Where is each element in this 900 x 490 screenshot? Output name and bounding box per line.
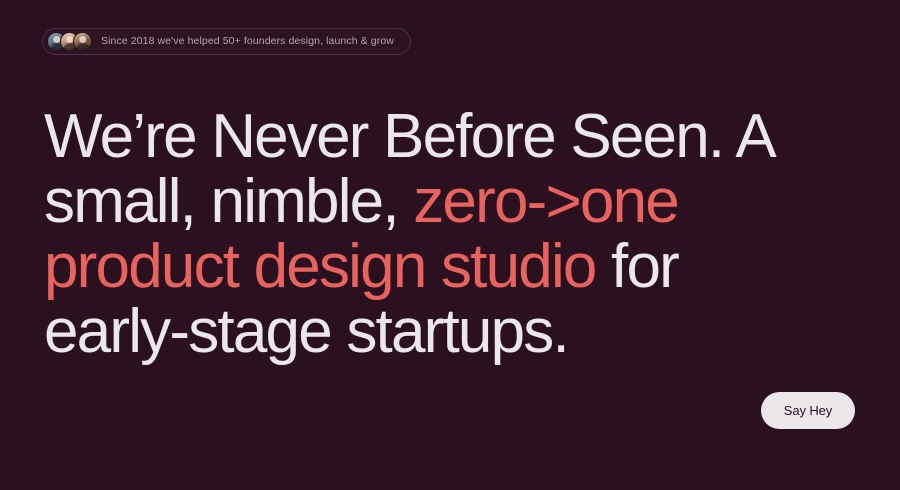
credibility-badge-text: Since 2018 we've helped 50+ founders des… — [101, 36, 394, 47]
say-hey-button[interactable]: Say Hey — [761, 392, 855, 429]
hero-headline: We’re Never Before Seen. A small, nimble… — [44, 104, 784, 364]
avatar-founder-3 — [73, 32, 92, 51]
avatar-stack — [47, 32, 92, 51]
credibility-badge: Since 2018 we've helped 50+ founders des… — [42, 28, 411, 55]
